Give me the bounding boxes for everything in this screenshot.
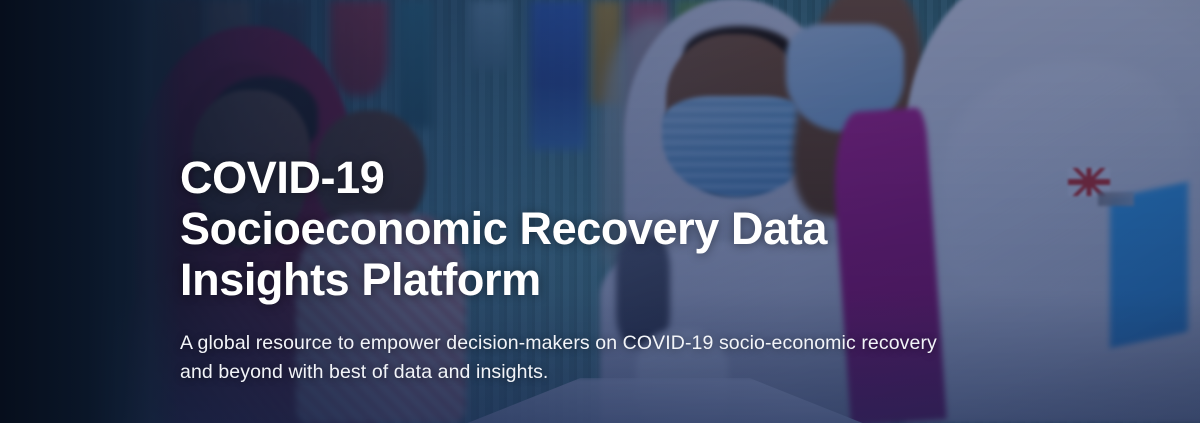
hero-banner: COVID-19 Socioeconomic Recovery Data Ins… bbox=[0, 0, 1200, 423]
page-title: COVID-19 Socioeconomic Recovery Data Ins… bbox=[180, 152, 1080, 305]
hero-copy-block: COVID-19 Socioeconomic Recovery Data Ins… bbox=[180, 152, 1080, 387]
dark-doorway bbox=[0, 0, 180, 423]
page-subtitle-line-1: A global resource to empower decision-ma… bbox=[180, 329, 1010, 358]
page-title-line-2: Socioeconomic Recovery Data bbox=[180, 203, 1080, 254]
page-title-line-3: Insights Platform bbox=[180, 254, 1080, 305]
page-title-line-1: COVID-19 bbox=[180, 152, 1080, 203]
page-subtitle-line-2: and beyond with best of data and insight… bbox=[180, 358, 1010, 387]
page-subtitle: A global resource to empower decision-ma… bbox=[180, 329, 1010, 387]
